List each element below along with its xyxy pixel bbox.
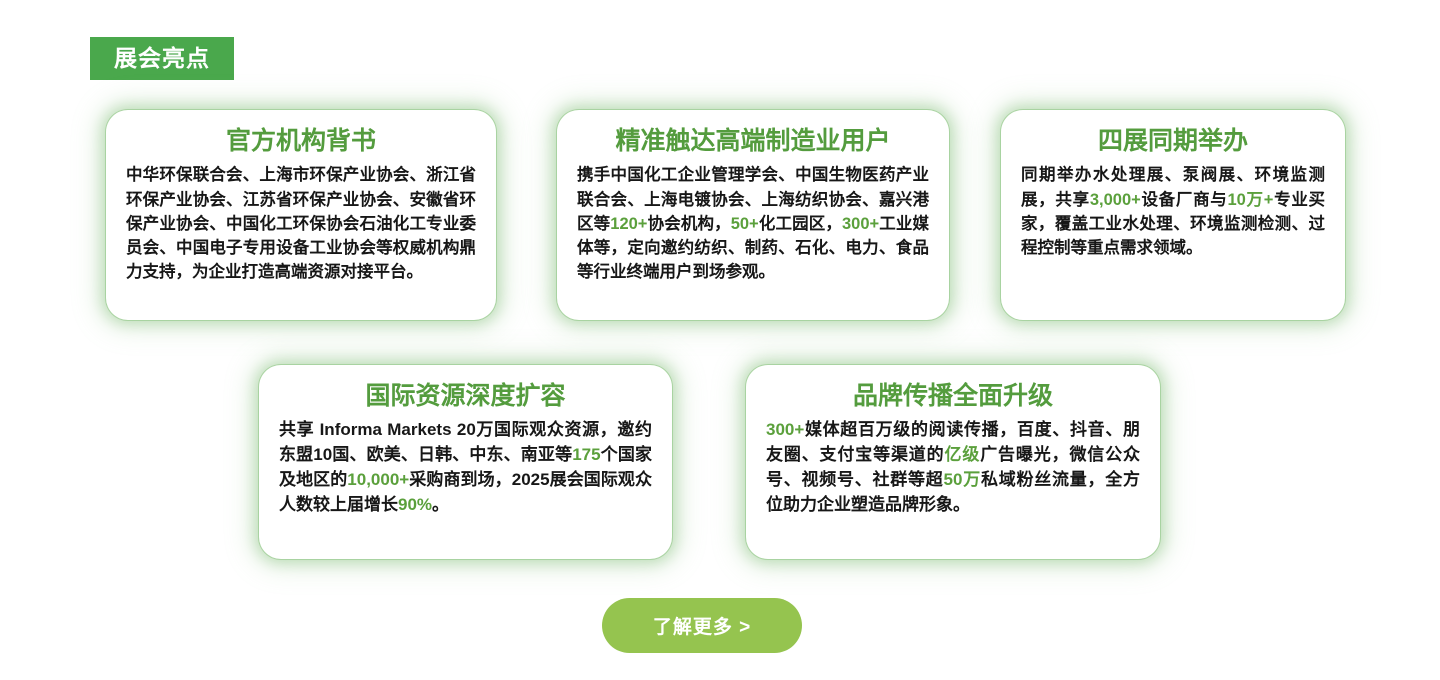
section-badge-label: 展会亮点: [114, 47, 210, 70]
highlight-card: 四展同期举办 同期举办水处理展、泵阀展、环境监测展，共享3,000+设备厂商与1…: [1001, 110, 1345, 320]
section-badge: 展会亮点: [90, 37, 234, 80]
highlight-text: 10万+: [1228, 191, 1274, 209]
body-text: 中华环保联合会、上海市环保产业协会、浙江省环保产业协会、江苏省环保产业协会、安徽…: [126, 166, 476, 281]
highlight-text: 90%: [398, 495, 432, 514]
card-body: 中华环保联合会、上海市环保产业协会、浙江省环保产业协会、江苏省环保产业协会、安徽…: [126, 163, 476, 284]
card-title: 国际资源深度扩容: [279, 381, 652, 412]
card-body: 同期举办水处理展、泵阀展、环境监测展，共享3,000+设备厂商与10万+专业买家…: [1021, 163, 1325, 260]
highlight-text: 10,000+: [347, 470, 409, 489]
body-text: 协会机构，: [647, 215, 730, 233]
highlight-text: 亿级: [945, 445, 981, 464]
card-title: 品牌传播全面升级: [766, 381, 1140, 412]
highlight-text: 50+: [731, 215, 759, 233]
card-title: 四展同期举办: [1021, 126, 1325, 157]
body-text: 化工园区，: [759, 215, 842, 233]
highlight-text: 120+: [610, 215, 647, 233]
highlight-text: 300+: [842, 215, 879, 233]
card-title: 官方机构背书: [126, 126, 476, 157]
card-title: 精准触达高端制造业用户: [577, 126, 929, 157]
highlight-text: 175: [572, 445, 600, 464]
learn-more-button[interactable]: 了解更多 >: [602, 598, 802, 653]
highlight-card: 精准触达高端制造业用户 携手中国化工企业管理学会、中国生物医药产业联合会、上海电…: [557, 110, 949, 320]
highlight-text: 300+: [766, 420, 804, 439]
highlight-text: 3,000+: [1090, 191, 1141, 209]
highlight-card: 官方机构背书 中华环保联合会、上海市环保产业协会、浙江省环保产业协会、江苏省环保…: [106, 110, 496, 320]
highlight-card: 国际资源深度扩容 共享 Informa Markets 20万国际观众资源，邀约…: [259, 365, 672, 559]
body-text: 。: [432, 495, 449, 514]
card-body: 携手中国化工企业管理学会、中国生物医药产业联合会、上海电镀协会、上海纺织协会、嘉…: [577, 163, 929, 284]
card-body: 300+媒体超百万级的阅读传播，百度、抖音、朋友圈、支付宝等渠道的亿级广告曝光，…: [766, 418, 1140, 518]
highlight-text: 50万: [944, 470, 981, 489]
highlights-page: 展会亮点 官方机构背书 中华环保联合会、上海市环保产业协会、浙江省环保产业协会、…: [0, 0, 1440, 680]
highlight-card: 品牌传播全面升级 300+媒体超百万级的阅读传播，百度、抖音、朋友圈、支付宝等渠…: [746, 365, 1160, 559]
body-text: 设备厂商与: [1141, 191, 1228, 209]
card-body: 共享 Informa Markets 20万国际观众资源，邀约东盟10国、欧美、…: [279, 418, 652, 518]
